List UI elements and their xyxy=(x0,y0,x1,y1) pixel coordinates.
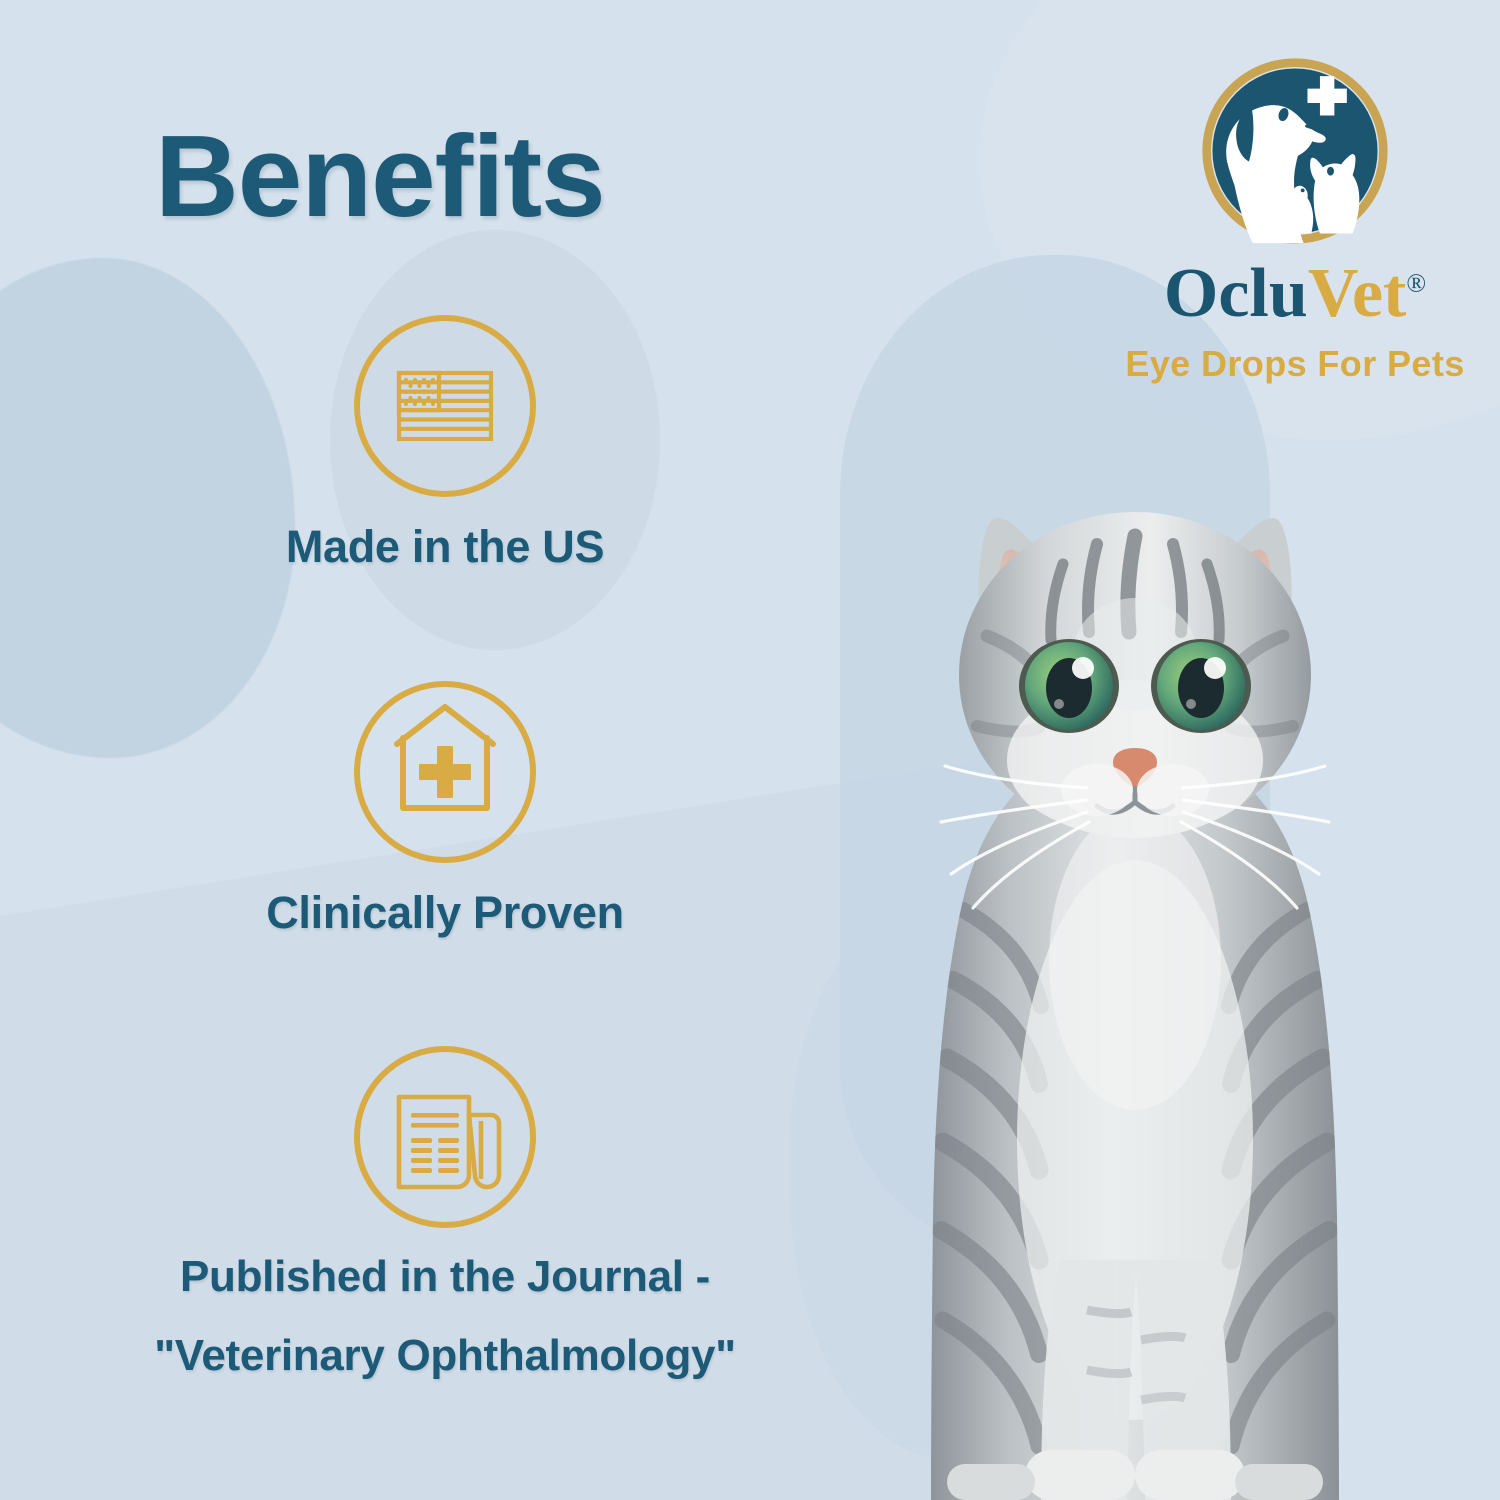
silver-tabby-cat-illustration xyxy=(835,440,1435,1500)
us-flag-icon xyxy=(349,310,541,502)
cat-body xyxy=(931,740,1339,1500)
brand-name-secondary: Vet xyxy=(1308,255,1407,332)
benefit-label-line: Made in the US xyxy=(30,518,860,576)
benefit-label: Made in the US xyxy=(30,518,860,576)
benefits-poster: Benefits xyxy=(0,0,1500,1500)
brand-wordmark: OcluVet® xyxy=(1110,259,1480,329)
benefit-label-line: Clinically Proven xyxy=(30,884,860,942)
benefits-list: Made in the US Clinically Proven xyxy=(30,310,860,1384)
benefit-item-made-in-us: Made in the US xyxy=(30,310,860,576)
registered-trademark-mark: ® xyxy=(1406,269,1426,298)
cat-eye-right xyxy=(1151,639,1251,733)
brand-name-primary: Oclu xyxy=(1164,255,1308,332)
benefit-label-line: Published in the Journal - xyxy=(30,1249,860,1305)
clinic-house-plus-icon xyxy=(349,676,541,868)
benefit-label: Clinically Proven xyxy=(30,884,860,942)
cat-photo xyxy=(835,440,1435,1500)
brand-tagline: Eye Drops For Pets xyxy=(1110,343,1480,385)
brand-logo: OcluVet® Eye Drops For Pets xyxy=(1110,55,1480,385)
newspaper-journal-icon xyxy=(349,1041,541,1233)
benefit-label: Published in the Journal - "Veterinary O… xyxy=(30,1249,860,1384)
dog-cat-bird-medical-cross-badge-icon xyxy=(1199,55,1391,247)
benefit-item-clinically-proven: Clinically Proven xyxy=(30,676,860,942)
benefit-item-published-journal: Published in the Journal - "Veterinary O… xyxy=(30,1041,860,1384)
cat-eye-left xyxy=(1019,639,1119,733)
page-title: Benefits xyxy=(155,118,605,234)
benefit-label-line: "Veterinary Ophthalmology" xyxy=(30,1328,860,1384)
